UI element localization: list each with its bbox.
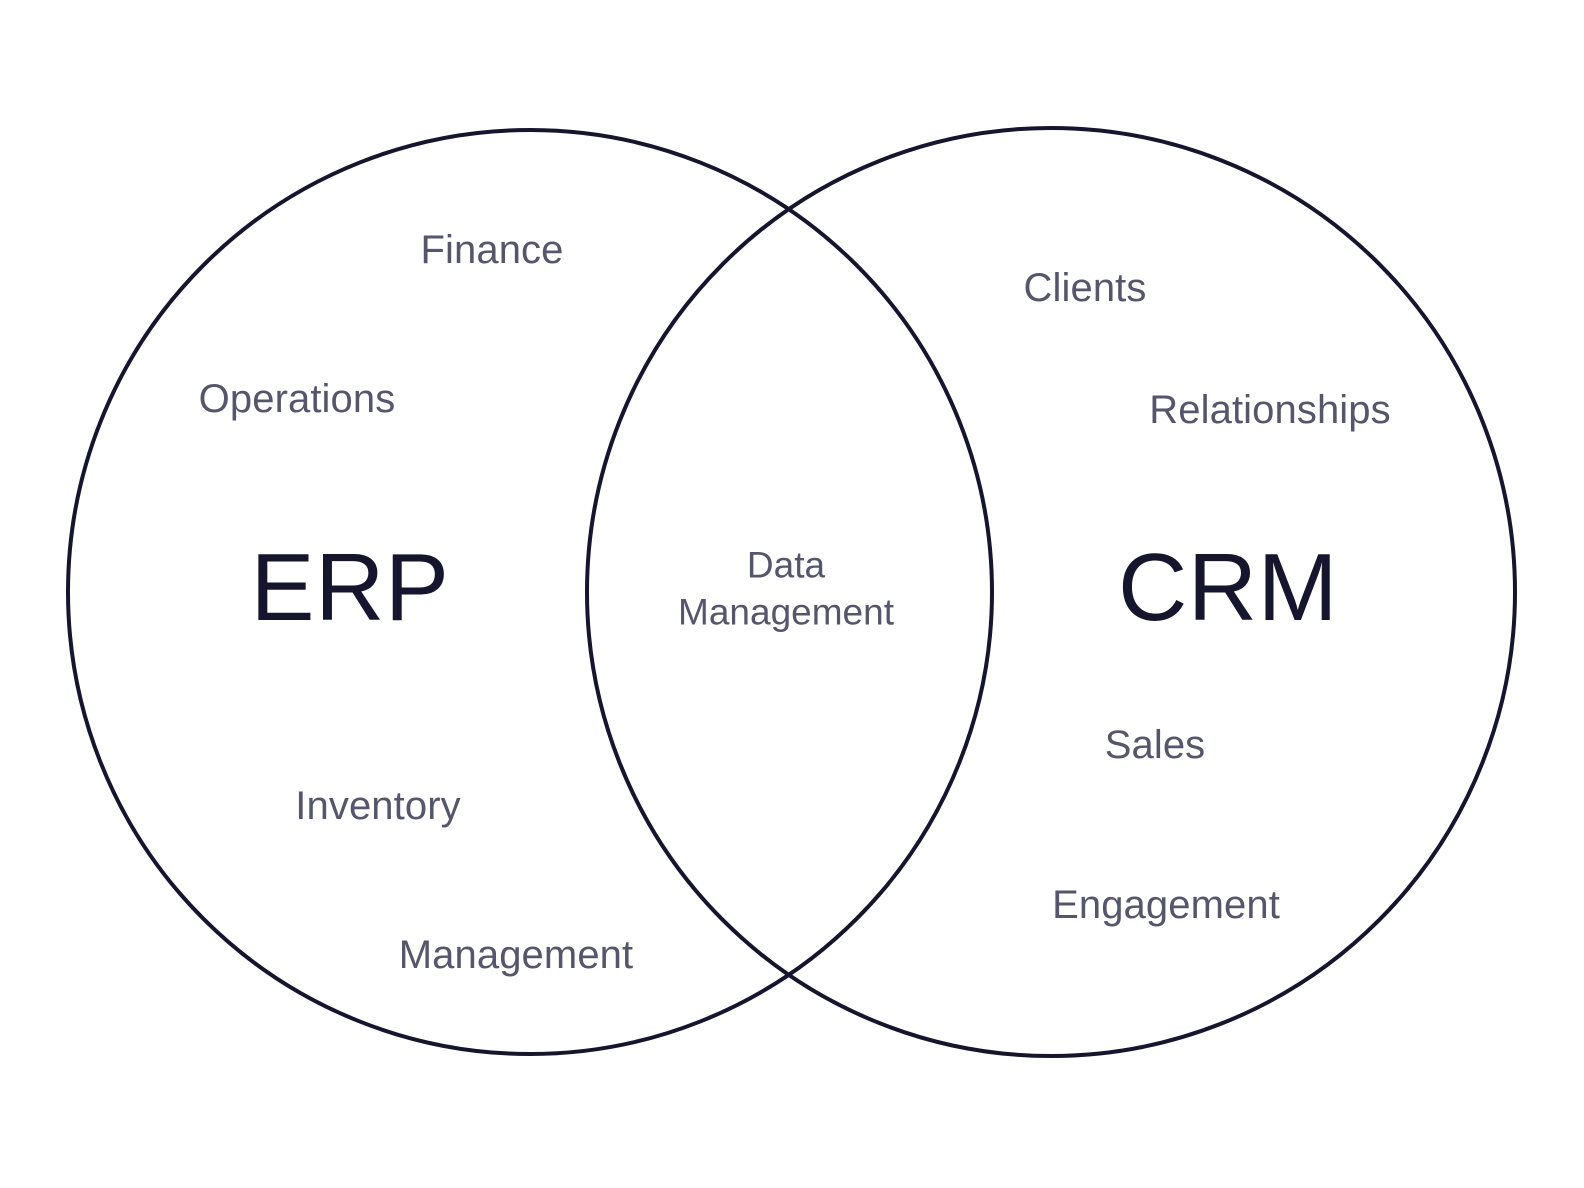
venn-diagram-canvas: ERP CRM Finance Operations Inventory Man… [0,0,1584,1188]
venn-label-left-3: Inventory [295,783,460,829]
venn-label-right-2: Relationships [1149,387,1390,433]
venn-title-right: CRM [1118,540,1338,636]
venn-label-intersection: Data Management [678,542,894,637]
venn-label-right-4: Engagement [1052,882,1280,928]
venn-label-right-1: Clients [1024,265,1147,311]
venn-label-right-3: Sales [1105,722,1206,768]
venn-label-left-1: Finance [420,227,563,273]
venn-title-left: ERP [251,540,450,636]
venn-label-left-2: Operations [199,376,396,422]
venn-label-left-4: Management [399,932,633,978]
